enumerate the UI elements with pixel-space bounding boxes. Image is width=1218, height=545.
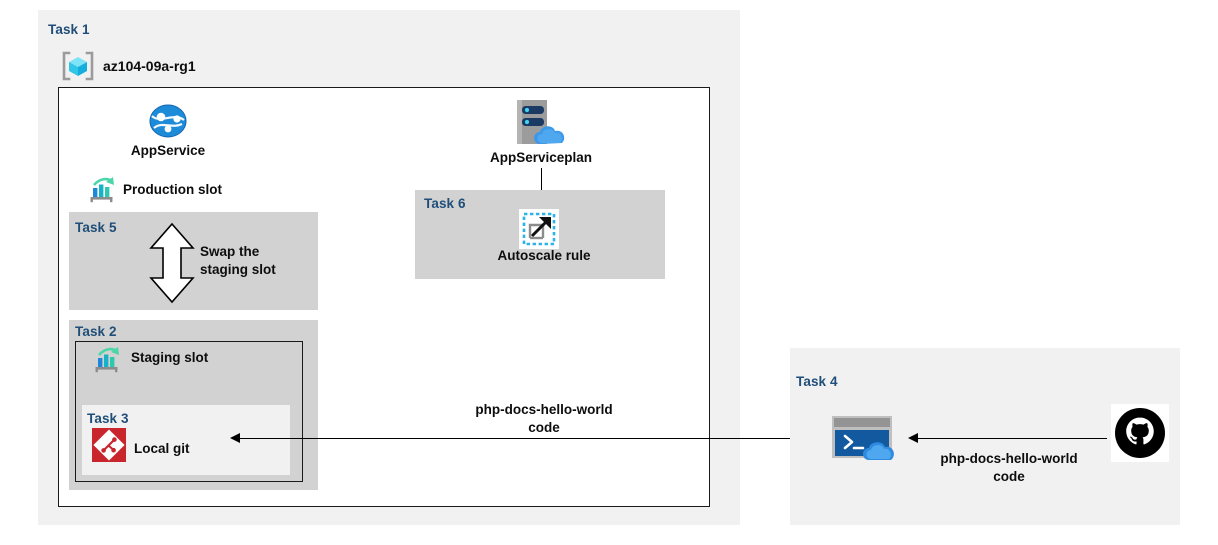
- production-slot-icon: [88, 176, 118, 204]
- resource-group-cube-icon: [60, 50, 96, 82]
- autoscale-expand-arrow-icon: [519, 209, 559, 249]
- app-service-plan-label: AppServiceplan: [461, 150, 621, 167]
- task6-label: Task 6: [424, 196, 466, 211]
- git-icon: [92, 428, 126, 462]
- task2-label: Task 2: [75, 324, 117, 339]
- task5-caption-line1: Swap the: [200, 243, 320, 261]
- app-service-label: AppService: [108, 143, 228, 160]
- task5-caption: Swap the staging slot: [200, 243, 320, 278]
- deploy-code-line2: code: [444, 419, 644, 437]
- task4-transfer-caption: php-docs-hello-world code: [909, 450, 1109, 485]
- app-service-plan-server-cloud-icon: [510, 98, 572, 148]
- cloudshell-to-localgit-line: [238, 438, 824, 439]
- swap-double-arrow-icon: [145, 222, 199, 304]
- cloudshell-to-localgit-arrowhead: [230, 433, 240, 443]
- task4-label: Task 4: [796, 374, 838, 389]
- github-to-cloudshell-arrowhead: [908, 433, 918, 443]
- deploy-code-caption: php-docs-hello-world code: [444, 401, 644, 436]
- local-git-label: Local git: [134, 441, 190, 458]
- staging-slot-icon: [93, 346, 123, 374]
- app-service-globe-icon: [148, 103, 188, 139]
- github-octocat-icon: [1111, 404, 1169, 462]
- deploy-code-line1: php-docs-hello-world: [444, 401, 644, 419]
- task1-label: Task 1: [48, 22, 90, 37]
- resource-group-name: az104-09a-rg1: [103, 58, 196, 76]
- task5-caption-line2: staging slot: [200, 261, 320, 279]
- cloud-shell-terminal-icon: [831, 415, 901, 462]
- task4-transfer-line2: code: [909, 468, 1109, 486]
- diagram-canvas: Task 1 az104-09a-rg1 AppService: [0, 0, 1218, 545]
- autoscale-rule-label: Autoscale rule: [459, 248, 629, 265]
- task5-label: Task 5: [75, 220, 117, 235]
- task4-transfer-line1: php-docs-hello-world: [909, 450, 1109, 468]
- staging-slot-label: Staging slot: [131, 350, 208, 367]
- task3-label: Task 3: [87, 411, 129, 426]
- production-slot-label: Production slot: [123, 182, 222, 199]
- github-to-cloudshell-line: [916, 438, 1107, 439]
